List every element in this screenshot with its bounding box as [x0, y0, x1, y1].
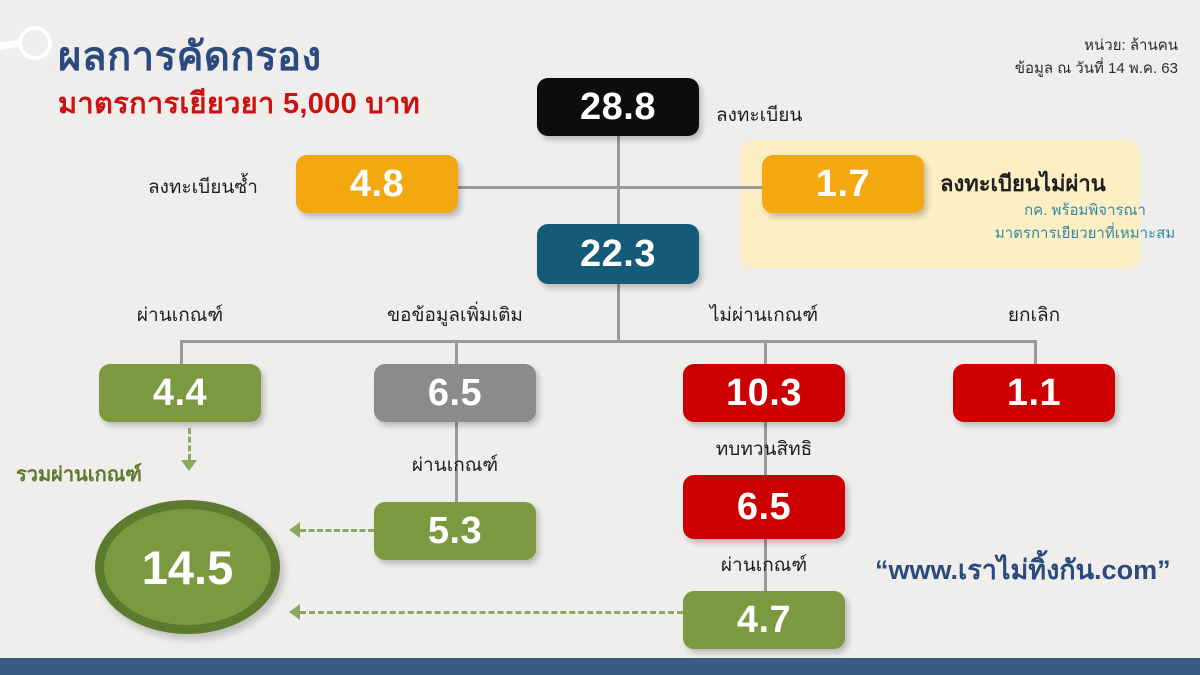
footer-bar	[0, 658, 1200, 675]
connector-vertical-main-bottom	[617, 284, 620, 342]
label-appeal-passed: ผ่านเกณฑ์	[721, 550, 807, 580]
panel-note-line2: มาตรการเยียวยาที่เหมาะสม	[995, 223, 1175, 246]
node-not-passed: 10.3	[683, 364, 845, 422]
node-total-passed: 14.5	[95, 500, 280, 634]
dash-appeal-passed-to-total	[300, 611, 683, 614]
dash-more-info-passed-to-total	[300, 529, 374, 532]
infographic-canvas: ผลการคัดกรอง มาตรการเยียวยา 5,000 บาท หน…	[0, 0, 1200, 675]
node-passed: 4.4	[99, 364, 261, 422]
connector-horizontal-row1	[455, 186, 765, 189]
panel-note-line1: กค. พร้อมพิจารณา	[995, 200, 1175, 223]
node-more-info-passed: 5.3	[374, 502, 536, 560]
dash-passed-to-total	[188, 428, 191, 460]
magnifying-glass-icon	[0, 22, 58, 72]
label-more-info: ขอข้อมูลเพิ่มเติม	[387, 300, 523, 330]
connector-stub-passed	[180, 340, 183, 365]
connector-stub-cancelled	[1034, 340, 1037, 365]
node-failed-registration: 1.7	[762, 155, 924, 213]
node-appeal: 6.5	[683, 475, 845, 539]
page-subtitle: มาตรการเยียวยา 5,000 บาท	[58, 80, 420, 126]
magnifier-ring	[18, 26, 52, 60]
arrow-more-info-passed-to-total	[289, 522, 300, 538]
label-more-info-passed: ผ่านเกณฑ์	[412, 450, 498, 480]
node-more-info: 6.5	[374, 364, 536, 422]
connector-vertical-main-mid	[617, 186, 620, 224]
node-duplicate: 4.8	[296, 155, 458, 213]
arrow-appeal-passed-to-total	[289, 604, 300, 620]
label-cancelled: ยกเลิก	[1008, 300, 1060, 330]
label-duplicate: ลงทะเบียนซ้ำ	[148, 172, 258, 202]
connector-vertical-main-top	[617, 136, 620, 188]
node-screened: 22.3	[537, 224, 699, 284]
node-cancelled: 1.1	[953, 364, 1115, 422]
label-passed: ผ่านเกณฑ์	[137, 300, 223, 330]
label-total-registered: ลงทะเบียน	[716, 100, 802, 130]
unit-note: หน่วย: ล้านคน	[1015, 34, 1178, 57]
node-appeal-passed: 4.7	[683, 591, 845, 649]
meta-notes: หน่วย: ล้านคน ข้อมูล ณ วันที่ 14 พ.ค. 63	[1015, 34, 1178, 81]
arrow-passed-to-total	[181, 460, 197, 471]
connector-stub-not-passed	[764, 340, 767, 365]
date-note: ข้อมูล ณ วันที่ 14 พ.ค. 63	[1015, 57, 1178, 80]
label-total-passed: รวมผ่านเกณฑ์	[16, 458, 142, 490]
label-appeal: ทบทวนสิทธิ	[716, 434, 812, 464]
label-failed-registration: ลงทะเบียนไม่ผ่าน	[940, 166, 1106, 201]
panel-note: กค. พร้อมพิจารณา มาตรการเยียวยาที่เหมาะส…	[995, 200, 1175, 245]
page-title: ผลการคัดกรอง	[58, 24, 322, 88]
connector-stub-more-info	[455, 340, 458, 365]
connector-branch-bar	[180, 340, 1036, 343]
label-not-passed: ไม่ผ่านเกณฑ์	[710, 300, 818, 330]
website-link[interactable]: “www.เราไม่ทิ้งกัน.com”	[875, 548, 1171, 591]
node-total-registered: 28.8	[537, 78, 699, 136]
